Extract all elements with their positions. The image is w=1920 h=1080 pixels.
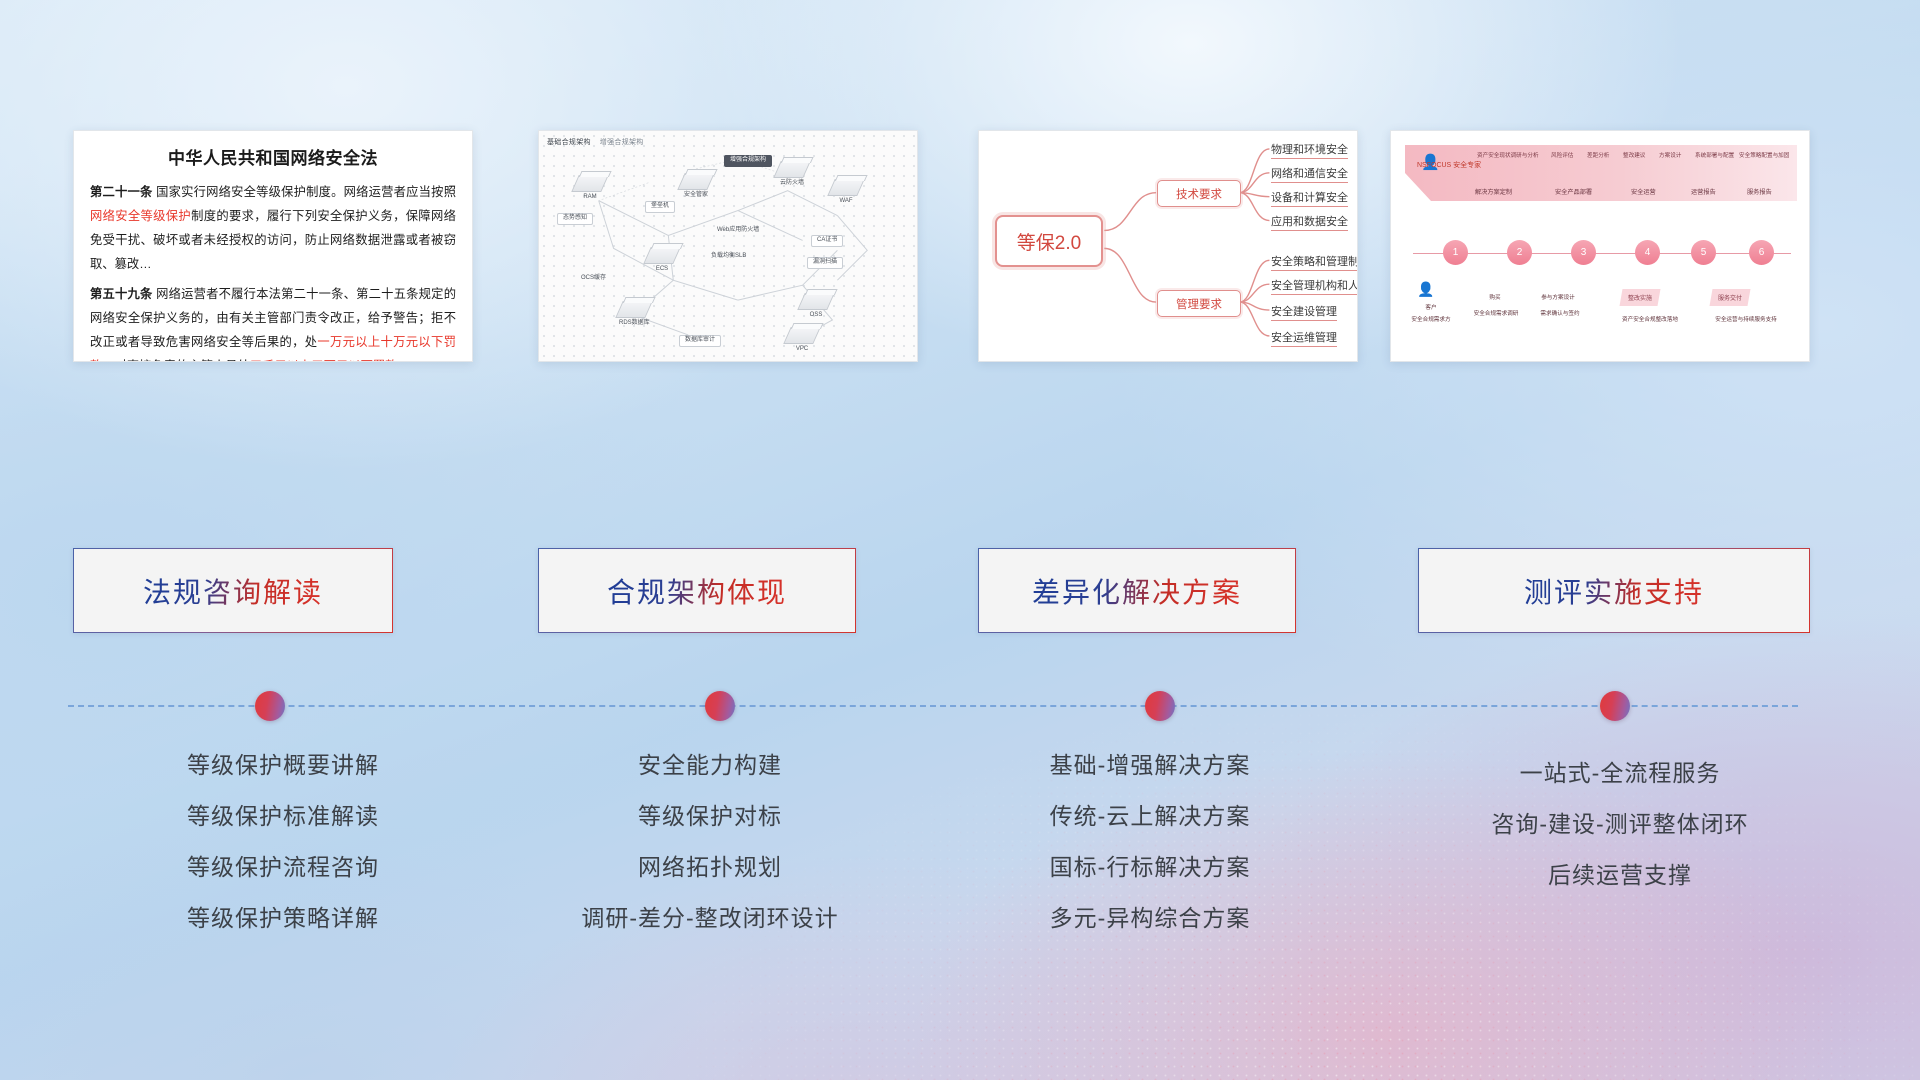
- card-mindmap-dengbao[interactable]: 等保2.0 技术要求 管理要求 物理和环境安全 网络和通信安全 设备和计算安全 …: [978, 130, 1358, 362]
- architecture-node-bastion-label: 堡垒机: [645, 201, 675, 213]
- pillar-label-3: 差异化解决方案: [1032, 571, 1242, 611]
- pillar-compliance-architecture[interactable]: 合规架构体现: [538, 548, 856, 633]
- pillar-label-2: 合规架构体现: [607, 571, 787, 611]
- law-document: 中华人民共和国网络安全法 第二十一条 国家实行网络安全等级保护制度。网络运营者应…: [74, 131, 472, 362]
- timeline-dot-2[interactable]: [705, 691, 735, 721]
- list-item: 等级保护概要讲解: [73, 740, 493, 791]
- mindmap-root-node: 等保2.0: [995, 215, 1103, 267]
- roadmap-top-tag-7: 安全策略配置与加固: [1739, 151, 1789, 159]
- architecture-node-dbaudit-label: 数据库审计: [679, 335, 721, 347]
- mindmap-leaf-application: 应用和数据安全: [1271, 213, 1348, 231]
- timeline: [0, 686, 1920, 726]
- roadmap-step-tag-research: 安全合规需求调研: [1463, 309, 1529, 317]
- architecture-node-butler-label: 安全管家: [684, 192, 708, 198]
- roadmap-step-3: 3: [1571, 240, 1596, 265]
- mindmap-branch-management: 管理要求: [1157, 290, 1241, 317]
- pillar-differentiated-solution[interactable]: 差异化解决方案: [978, 548, 1296, 633]
- mindmap-leaf-network: 网络和通信安全: [1271, 165, 1348, 183]
- roadmap-step-1: 1: [1443, 240, 1468, 265]
- architecture-diagram: 基础合规架构 增强合规架构: [539, 131, 917, 361]
- reference-image-cards: 中华人民共和国网络安全法 第二十一条 国家实行网络安全等级保护制度。网络运营者应…: [0, 130, 1920, 365]
- architecture-node-scan-label: 漏洞扫描: [807, 257, 843, 269]
- cube-icon: [783, 327, 821, 344]
- list-item: 基础-增强解决方案: [940, 740, 1360, 791]
- pillar-label-1: 法规咨询解读: [143, 571, 323, 611]
- list-item: 国标-行标解决方案: [940, 842, 1360, 893]
- mindmap-leaf-policy: 安全策略和管理制度: [1271, 253, 1358, 271]
- law-paragraph-1: 第二十一条 国家实行网络安全等级保护制度。网络运营者应当按照网络安全等级保护制度…: [90, 180, 456, 276]
- roadmap-timeline-line: [1413, 253, 1791, 254]
- card-compliance-architecture[interactable]: 基础合规架构 增强合规架构: [538, 130, 918, 362]
- cube-icon: [797, 293, 835, 310]
- mindmap-leaf-org: 安全管理机构和人员: [1271, 277, 1358, 295]
- mindmap-diagram: 等保2.0 技术要求 管理要求 物理和环境安全 网络和通信安全 设备和计算安全 …: [979, 131, 1357, 361]
- architecture-node-ecs: ECS: [647, 247, 677, 274]
- architecture-node-ram: RAM: [575, 175, 605, 202]
- architecture-node-bastion: 堡垒机: [645, 201, 675, 213]
- mindmap-branch-technical: 技术要求: [1157, 180, 1241, 207]
- cube-icon: [643, 247, 681, 264]
- roadmap-tile-delivery-sub: 安全运营与持续服务支持: [1697, 315, 1795, 323]
- card-cybersecurity-law[interactable]: 中华人民共和国网络安全法 第二十一条 国家实行网络安全等级保护制度。网络运营者应…: [73, 130, 473, 362]
- architecture-node-ecs-label: ECS: [656, 266, 668, 272]
- architecture-node-rds: RDS数据库: [619, 301, 650, 328]
- law-text-1b-highlight: 网络安全等级保护: [90, 209, 191, 223]
- architecture-node-butler: 安全管家: [681, 173, 711, 200]
- architecture-node-vpc: VPC: [787, 327, 817, 354]
- roadmap-step-5: 5: [1691, 240, 1716, 265]
- architecture-node-situation-label: 态势感知: [557, 213, 593, 225]
- timeline-dot-1[interactable]: [255, 691, 285, 721]
- slide-stage: 中华人民共和国网络安全法 第二十一条 国家实行网络安全等级保护制度。网络运营者应…: [0, 0, 1920, 1080]
- roadmap-chip-4: 运营报告: [1691, 187, 1716, 196]
- roadmap-step-tag-design: 参与方案设计: [1523, 293, 1593, 301]
- detail-columns: 等级保护概要讲解 等级保护标准解读 等级保护流程咨询 等级保护策略详解 安全能力…: [0, 740, 1920, 960]
- mindmap-leaf-device: 设备和计算安全: [1271, 189, 1348, 207]
- roadmap-top-tag-5: 方案设计: [1659, 151, 1681, 159]
- pillar-headers: 法规咨询解读 合规架构体现 差异化解决方案 测评实施支持: [0, 548, 1920, 636]
- architecture-node-waf-label: WAF: [839, 198, 852, 204]
- roadmap-chip-5: 服务报告: [1747, 187, 1772, 196]
- architecture-node-scan: 漏洞扫描: [807, 257, 843, 269]
- roadmap-chip-2: 安全产品部署: [1555, 187, 1592, 196]
- list-item: 一站式-全流程服务: [1380, 748, 1860, 799]
- law-title: 中华人民共和国网络安全法: [90, 144, 456, 169]
- list-item: 网络拓扑规划: [500, 842, 920, 893]
- roadmap-step-4: 4: [1635, 240, 1660, 265]
- roadmap-brand-label: NSFOCUS 安全专家: [1417, 161, 1481, 170]
- roadmap-customer-sub: 安全合规需求方: [1397, 315, 1465, 323]
- architecture-node-slb: 负载均衡SLB: [711, 253, 746, 261]
- card-nsfocus-roadmap[interactable]: 👤 NSFOCUS 安全专家 资产安全现状调研与分析 风险评估 差距分析 整改建…: [1390, 130, 1810, 362]
- roadmap-top-tag-1: 资产安全现状调研与分析: [1477, 151, 1539, 159]
- law-article-number-2: 第五十九条: [90, 287, 153, 301]
- roadmap-tile-rectify-sub: 资产安全合规整改落地: [1605, 315, 1695, 323]
- roadmap-diagram: 👤 NSFOCUS 安全专家 资产安全现状调研与分析 风险评估 差距分析 整改建…: [1391, 131, 1809, 361]
- architecture-node-rds-label: RDS数据库: [619, 320, 650, 326]
- roadmap-chip-3: 安全运营: [1631, 187, 1656, 196]
- roadmap-brand-text: NSFOCUS 安全专家: [1417, 162, 1481, 169]
- law-article-number-1: 第二十一条: [90, 185, 153, 199]
- pillar-label-4: 测评实施支持: [1524, 571, 1704, 611]
- roadmap-top-tag-4: 整改建议: [1623, 151, 1645, 159]
- timeline-dot-3[interactable]: [1145, 691, 1175, 721]
- architecture-node-slb-label: 负载均衡SLB: [711, 253, 746, 259]
- roadmap-step-tag-confirm: 需求确认与签约: [1527, 309, 1593, 317]
- cube-icon: [616, 301, 654, 318]
- roadmap-chip-1: 解决方案定制: [1475, 187, 1512, 196]
- list-item: 调研-差分-整改闭环设计: [500, 893, 920, 944]
- list-item: 等级保护对标: [500, 791, 920, 842]
- list-item: 等级保护策略详解: [73, 893, 493, 944]
- timeline-dashed-line: [68, 705, 1798, 707]
- list-item: 传统-云上解决方案: [940, 791, 1360, 842]
- law-paragraph-2: 第五十九条 网络运营者不履行本法第二十一条、第二十五条规定的网络安全保护义务的，…: [90, 282, 456, 362]
- roadmap-top-tag-2: 风险评估: [1551, 151, 1573, 159]
- architecture-node-ocs-label: OCS缓存: [581, 275, 606, 281]
- column-assessment-support: 一站式-全流程服务 咨询-建设-测评整体闭环 后续运营支撑: [1380, 748, 1860, 901]
- architecture-node-webwaf-label: Web应用防火墙: [717, 227, 759, 233]
- mindmap-leaf-physical: 物理和环境安全: [1271, 141, 1348, 159]
- law-text-2d-highlight: 五千元以上五万元以下罚款。: [250, 359, 410, 362]
- mindmap-leaf-ops: 安全运维管理: [1271, 329, 1337, 347]
- column-compliance-architecture: 安全能力构建 等级保护对标 网络拓扑规划 调研-差分-整改闭环设计: [500, 740, 920, 944]
- roadmap-tile-rectify-label: 整改实施: [1628, 293, 1652, 302]
- architecture-node-waf-top: 云防火墙: [777, 161, 807, 188]
- roadmap-top-tag-6: 系统部署与配置: [1695, 151, 1734, 159]
- architecture-node-ca-label: CA证书: [811, 235, 843, 247]
- column-differentiated-solution: 基础-增强解决方案 传统-云上解决方案 国标-行标解决方案 多元-异构综合方案: [940, 740, 1360, 944]
- roadmap-customer-label: 客户: [1411, 303, 1451, 311]
- architecture-node-oss-label: OSS: [810, 312, 823, 318]
- architecture-node-title: 增强合规架构: [724, 155, 772, 167]
- pillar-regulation-consulting[interactable]: 法规咨询解读: [73, 548, 393, 633]
- law-text-1a: 国家实行网络安全等级保护制度。网络运营者应当按照: [153, 185, 456, 199]
- pillar-assessment-support[interactable]: 测评实施支持: [1418, 548, 1810, 633]
- architecture-node-oss: OSS: [801, 293, 831, 320]
- architecture-node-ocs: OCS缓存: [581, 275, 606, 283]
- architecture-node-ca: CA证书: [811, 235, 843, 247]
- cube-icon: [571, 175, 609, 192]
- customer-avatar-icon: 👤: [1417, 281, 1434, 298]
- roadmap-step-2: 2: [1507, 240, 1532, 265]
- architecture-node-waf: WAF: [831, 179, 861, 206]
- list-item: 安全能力构建: [500, 740, 920, 791]
- law-text-2c: ，对直接负责的主管人员处: [102, 359, 250, 362]
- roadmap-tile-rectify: 整改实施: [1620, 289, 1661, 306]
- cube-icon: [773, 161, 811, 178]
- roadmap-tile-delivery-label: 服务交付: [1718, 293, 1742, 302]
- list-item: 后续运营支撑: [1380, 850, 1860, 901]
- list-item: 多元-异构综合方案: [940, 893, 1360, 944]
- list-item: 咨询-建设-测评整体闭环: [1380, 799, 1860, 850]
- roadmap-step-tag-buy: 购买: [1475, 293, 1515, 301]
- roadmap-top-tag-3: 差距分析: [1587, 151, 1609, 159]
- timeline-dot-4[interactable]: [1600, 691, 1630, 721]
- architecture-node-dbaudit: 数据库审计: [679, 335, 721, 347]
- architecture-node-situation: 态势感知: [557, 213, 593, 225]
- architecture-node-webwaf: Web应用防火墙: [717, 227, 759, 235]
- architecture-node-waf-top-label: 云防火墙: [780, 180, 804, 186]
- architecture-node-vpc-label: VPC: [796, 346, 808, 352]
- list-item: 等级保护标准解读: [73, 791, 493, 842]
- roadmap-tile-delivery: 服务交付: [1710, 289, 1751, 306]
- architecture-node-title-pill: 增强合规架构: [724, 155, 772, 167]
- roadmap-step-6: 6: [1749, 240, 1774, 265]
- mindmap-leaf-build: 安全建设管理: [1271, 303, 1337, 321]
- cube-icon: [677, 173, 715, 190]
- list-item: 等级保护流程咨询: [73, 842, 493, 893]
- architecture-node-ram-label: RAM: [583, 194, 596, 200]
- cube-icon: [827, 179, 865, 196]
- column-regulation-consulting: 等级保护概要讲解 等级保护标准解读 等级保护流程咨询 等级保护策略详解: [73, 740, 493, 944]
